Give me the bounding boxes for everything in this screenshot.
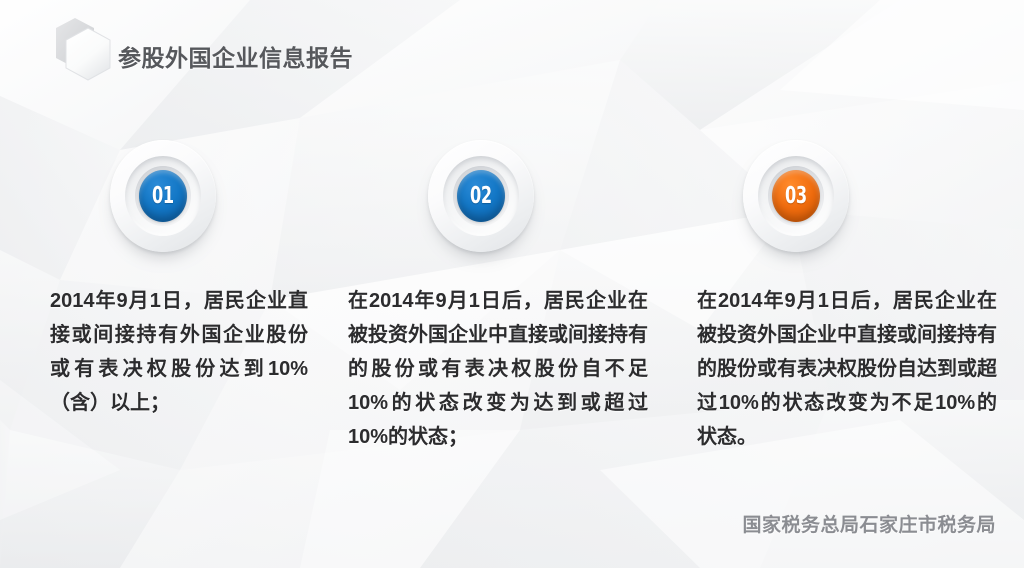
footer-organization: 国家税务总局石家庄市税务局 [742, 510, 996, 537]
column-body-text: 在2014年9月1日后，居民企业在被投资外国企业中直接或间接持有的股份或有表决权… [697, 284, 997, 454]
badge-number: 01 [152, 185, 174, 208]
badge-number: 03 [785, 185, 807, 208]
content-column: 03 在2014年9月1日后，居民企业在被投资外国企业中直接或间接持有的股份或有… [697, 138, 997, 454]
badge-disc: 03 [772, 170, 820, 222]
step-badge-03[interactable]: 03 [741, 138, 859, 262]
content-column: 02 在2014年9月1日后，居民企业在被投资外国企业中直接或间接持有的股份或有… [348, 138, 648, 454]
column-body-text: 在2014年9月1日后，居民企业在被投资外国企业中直接或间接持有的股份或有表决权… [348, 284, 648, 454]
badge-number: 02 [470, 185, 492, 208]
badge-disc: 02 [457, 170, 505, 222]
column-body-text: 2014年9月1日，居民企业直接或间接持有外国企业股份或有表决权股份达到10%（… [50, 284, 308, 420]
step-badge-01[interactable]: 01 [108, 138, 226, 262]
content-column: 01 2014年9月1日，居民企业直接或间接持有外国企业股份或有表决权股份达到1… [50, 138, 308, 420]
content-columns: 01 2014年9月1日，居民企业直接或间接持有外国企业股份或有表决权股份达到1… [0, 0, 1024, 568]
badge-disc: 01 [139, 170, 187, 222]
slide-canvas: 参股外国企业信息报告 01 2014年9月1日，居民企业直接或间接持有外国企业股… [0, 0, 1024, 568]
step-badge-02[interactable]: 02 [426, 138, 544, 262]
